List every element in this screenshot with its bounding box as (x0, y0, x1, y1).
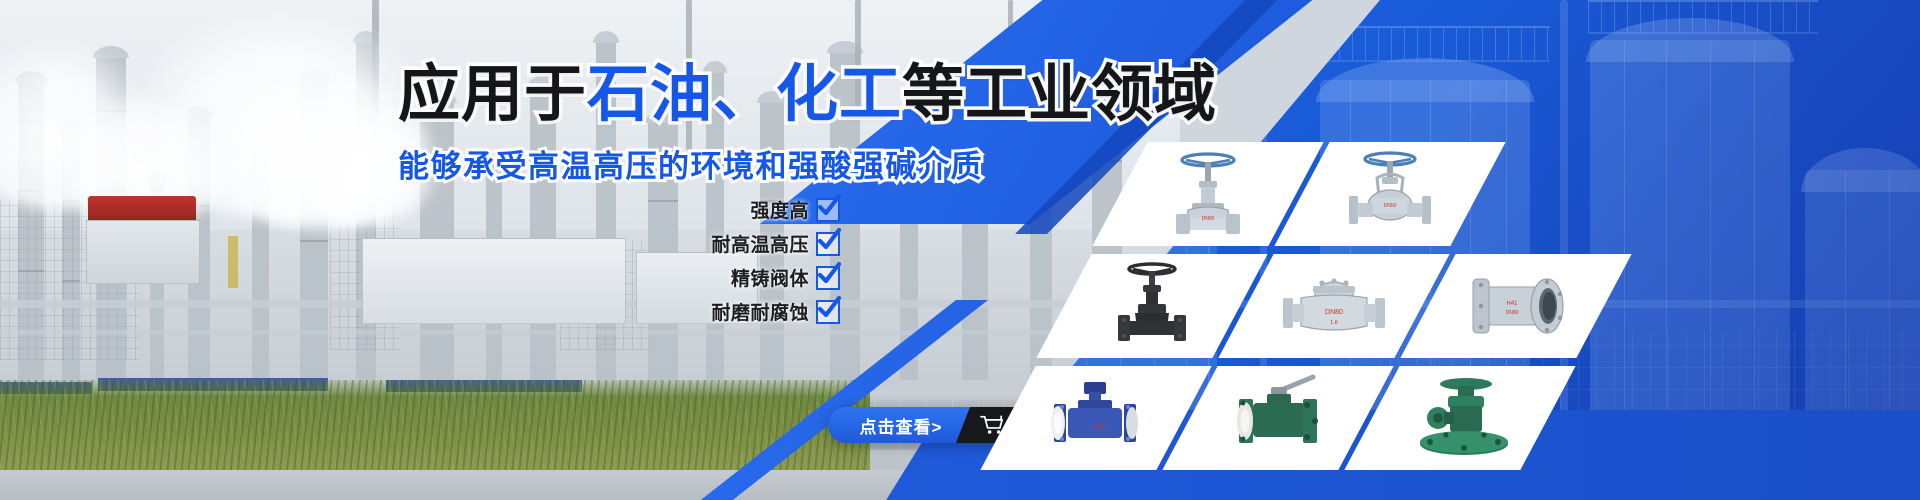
page-subtitle: 能够承受高温高压的环境和强酸强碱介质 (398, 141, 983, 186)
feature-label: 耐高温高压 (711, 230, 809, 257)
refinery-tower (530, 85, 556, 380)
svg-text:DN50: DN50 (1384, 203, 1397, 209)
svg-text:DN80: DN80 (1325, 309, 1343, 316)
list-item: 耐高温高压 (711, 230, 840, 257)
red-roof-building (88, 196, 196, 222)
svg-text:H41: H41 (1506, 301, 1518, 307)
product-row: Q41F (1008, 366, 1554, 470)
headline-segment-highlight: 石油、化工 (587, 60, 902, 129)
checkmark-icon (816, 198, 840, 222)
svg-text:Q41F: Q41F (1094, 424, 1107, 430)
product-grid: DN50 DN50 (980, 142, 1750, 492)
forged-gate-valve-black (1102, 259, 1202, 353)
globe-valve-flanged: DN50 (1335, 148, 1445, 240)
swing-check-valve: DN80 1.6 (1275, 268, 1393, 344)
page-title: 应用于石油、化工等工业领域 (398, 62, 1217, 127)
list-item: 耐磨耐腐蚀 (711, 298, 840, 325)
list-item: 精铸阀体 (731, 264, 840, 291)
ball-valve-green-lever (1219, 373, 1337, 463)
svg-text:DN50: DN50 (1202, 216, 1215, 222)
headline-segment-1: 应用于 (398, 60, 587, 129)
checkmark-icon (816, 266, 840, 290)
product-row: DN80 1.6 H41 DN80 (1064, 254, 1610, 358)
feature-label: 耐磨耐腐蚀 (711, 298, 809, 325)
headline-segment-3: 等工业领域 (902, 60, 1217, 129)
checkmark-icon (816, 232, 840, 256)
list-item: 强度高 (750, 196, 840, 223)
svg-text:DN80: DN80 (1506, 310, 1519, 316)
feature-label: 强度高 (750, 196, 809, 223)
product-row: DN50 DN50 (1120, 142, 1484, 246)
promo-banner: X (0, 0, 1920, 500)
feature-list: 强度高 耐高温高压 精铸阀体 耐磨耐腐蚀 (660, 196, 840, 325)
yellow-structure (228, 236, 238, 288)
gate-valve-handwheel: DN50 (1156, 148, 1260, 240)
plant-building (86, 220, 200, 284)
feature-label: 精铸阀体 (731, 264, 809, 291)
grass-strip (0, 380, 870, 472)
checkmark-icon (816, 300, 840, 324)
flanged-plug-valve-green (1404, 372, 1516, 464)
cta-label[interactable]: 点击查看> (828, 407, 970, 443)
lined-ball-valve-blue: Q41F (1038, 376, 1154, 460)
svg-text:1.6: 1.6 (1330, 320, 1338, 326)
plant-hall (362, 238, 626, 324)
wafer-check-valve: H41 DN80 (1459, 267, 1573, 345)
